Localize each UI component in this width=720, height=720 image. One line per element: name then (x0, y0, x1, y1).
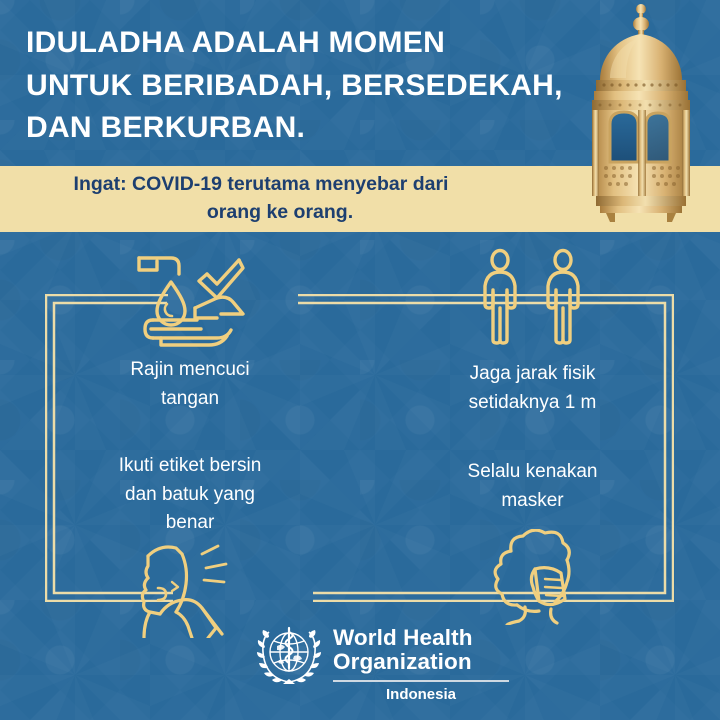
caption-line: dan batuk yang (55, 481, 325, 510)
title-line-2: UNTUK BERIBADAH, BERSEDEKAH, (26, 65, 586, 108)
who-divider (333, 680, 509, 682)
who-line-2: Organization (333, 650, 509, 674)
banner-line-1: Ingat: COVID-19 terutama menyebar dari (74, 171, 449, 199)
person-wearing-mask-icon (473, 529, 593, 625)
poster-canvas: IDULADHA ADALAH MOMEN UNTUK BERIBADAH, B… (0, 0, 720, 720)
two-people-distance-icon (473, 248, 593, 348)
who-logo: World Health Organization Indonesia (255, 622, 509, 703)
who-wordmark: World Health Organization Indonesia (333, 622, 509, 703)
measure-wash-hands: Rajin mencuci tangan (60, 248, 320, 413)
caption-line: masker (400, 487, 665, 516)
title-line-1: IDULADHA ADALAH MOMEN (26, 22, 586, 65)
caption-line: setidaknya 1 m (400, 389, 665, 418)
caption-line: benar (55, 509, 325, 538)
caption-line: Selalu kenakan (400, 458, 665, 487)
caption-line: Rajin mencuci (60, 356, 320, 385)
measure-wash-hands-caption: Rajin mencuci tangan (60, 356, 320, 413)
sneeze-into-elbow-icon (130, 542, 250, 638)
measure-physical-distance-caption: Jaga jarak fisik setidaknya 1 m (400, 360, 665, 417)
caption-line: Ikuti etiket bersin (55, 452, 325, 481)
covid-notice-text: Ingat: COVID-19 terutama menyebar dari o… (0, 166, 560, 232)
title-line-3: DAN BERKURBAN. (26, 107, 586, 150)
measure-cough-etiquette: Ikuti etiket bersin dan batuk yang benar (55, 452, 325, 638)
measure-cough-etiquette-caption: Ikuti etiket bersin dan batuk yang benar (55, 452, 325, 538)
banner-line-2: orang ke orang. (207, 199, 353, 227)
handwashing-icon (131, 248, 249, 348)
measure-wear-mask-caption: Selalu kenakan masker (400, 458, 665, 515)
who-country-label: Indonesia (333, 686, 509, 703)
who-emblem-icon (255, 622, 323, 690)
measure-physical-distance: Jaga jarak fisik setidaknya 1 m (400, 248, 665, 417)
measure-wear-mask: Selalu kenakan masker (400, 458, 665, 625)
caption-line: Jaga jarak fisik (400, 360, 665, 389)
page-title: IDULADHA ADALAH MOMEN UNTUK BERIBADAH, B… (26, 22, 586, 150)
ramadan-lantern-icon (566, 0, 716, 236)
who-line-1: World Health (333, 626, 509, 650)
caption-line: tangan (60, 385, 320, 414)
